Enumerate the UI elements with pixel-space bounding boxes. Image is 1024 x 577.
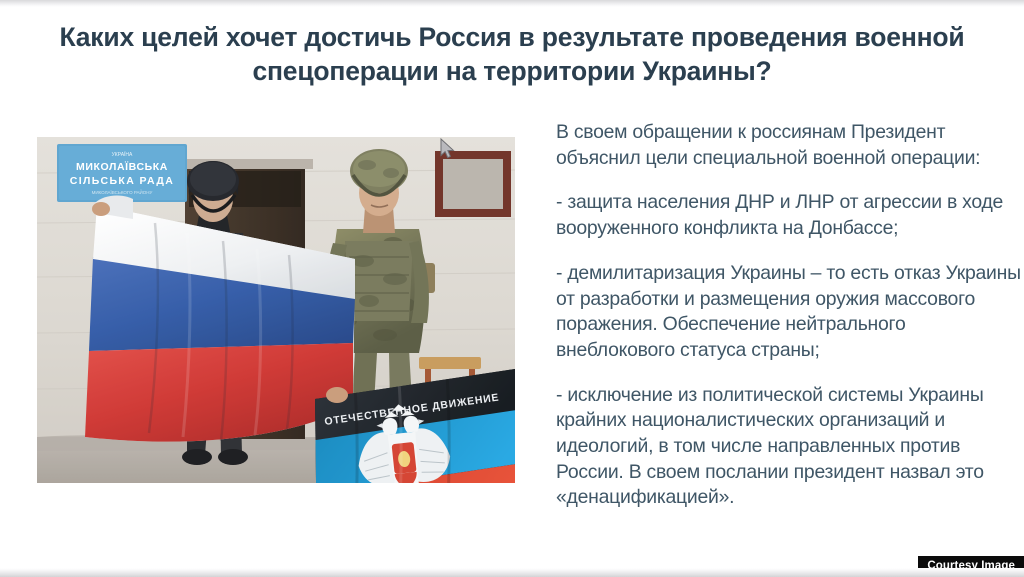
video-frame-top-edge <box>0 0 1024 7</box>
photo-softening-overlay <box>37 137 515 483</box>
video-frame-bottom-edge <box>0 568 1024 577</box>
paragraph-bullet-2: - демилитаризация Украины – то есть отка… <box>556 261 1024 364</box>
slide-title: Каких целей хочет достичь Россия в резул… <box>50 20 974 89</box>
paragraph-intro: В своем обращении к россиянам Президент … <box>556 120 1024 171</box>
paragraph-bullet-1: - защита населения ДНР и ЛНР от агрессии… <box>556 190 1024 241</box>
photo-illustration: УКРАЇНА МИКОЛАЇВСЬКА СІЛЬСЬКА РАДА МИКОЛ… <box>37 137 515 483</box>
presentation-slide: Каких целей хочет достичь Россия в резул… <box>0 0 1024 577</box>
paragraph-bullet-3: - исключение из политической системы Укр… <box>556 383 1024 512</box>
slide-body-text: В своем обращении к россиянам Президент … <box>556 120 1024 511</box>
slide-photo: УКРАЇНА МИКОЛАЇВСЬКА СІЛЬСЬКА РАДА МИКОЛ… <box>37 137 515 483</box>
